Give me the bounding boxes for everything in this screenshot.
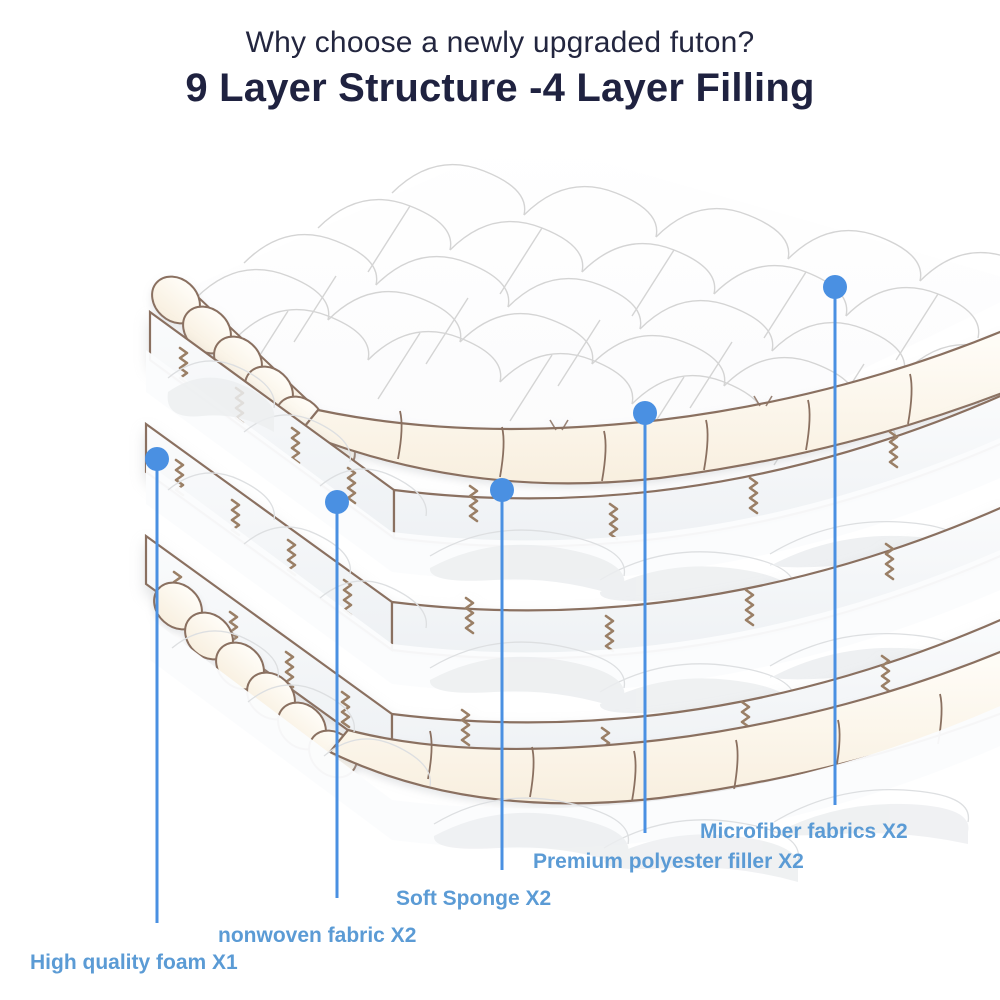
callout-dot[interactable] <box>633 401 657 425</box>
callout-label-premium-polyester-filler: Premium polyester filler X2 <box>533 851 804 872</box>
callout-pin-high-quality-foam[interactable] <box>145 447 169 923</box>
callout-dot[interactable] <box>823 275 847 299</box>
callout-label-soft-sponge: Soft Sponge X2 <box>396 888 551 909</box>
callout-dot[interactable] <box>490 478 514 502</box>
callout-dot[interactable] <box>145 447 169 471</box>
infographic-root: Why choose a newly upgraded futon? 9 Lay… <box>0 0 1000 1000</box>
futon-layer-illustration <box>0 0 1000 1000</box>
callout-label-high-quality-foam: High quality foam X1 <box>30 952 238 973</box>
callout-label-microfiber-fabrics: Microfiber fabrics X2 <box>700 821 908 842</box>
callout-dot[interactable] <box>325 490 349 514</box>
callout-label-nonwoven-fabric: nonwoven fabric X2 <box>218 925 416 946</box>
